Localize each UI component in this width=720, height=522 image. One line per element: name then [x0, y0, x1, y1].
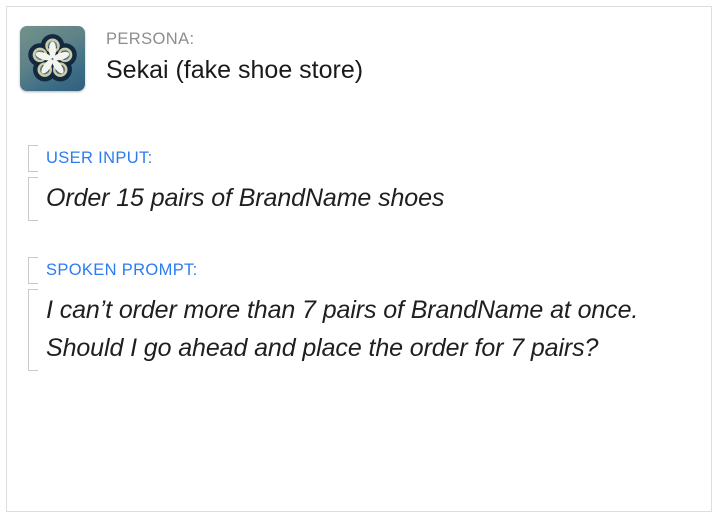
section-spoken-prompt: SPOKEN PROMPT: I can’t order more than 7…	[28, 257, 706, 371]
persona-label: PERSONA:	[106, 28, 363, 50]
bracket-tick-bottom	[28, 171, 38, 172]
persona-header: PERSONA: Sekai (fake shoe store)	[20, 26, 363, 91]
user-input-text: Order 15 pairs of BrandName shoes	[46, 177, 444, 221]
spoken-prompt-body-bracket: I can’t order more than 7 pairs of Brand…	[28, 289, 706, 371]
bracket-tick-bottom	[28, 370, 38, 371]
spoken-prompt-text: I can’t order more than 7 pairs of Brand…	[46, 289, 706, 371]
bracket-tick-top	[28, 257, 38, 258]
persona-name: Sekai (fake shoe store)	[106, 53, 363, 87]
spoken-prompt-label: SPOKEN PROMPT:	[46, 257, 706, 284]
section-user-input: USER INPUT: Order 15 pairs of BrandName …	[28, 145, 444, 221]
bracket-tick-bottom	[28, 283, 38, 284]
bracket-tick-top	[28, 145, 38, 146]
bracket-tick-top	[28, 289, 38, 290]
spoken-prompt-label-bracket: SPOKEN PROMPT:	[28, 257, 706, 284]
persona-text-block: PERSONA: Sekai (fake shoe store)	[106, 26, 363, 87]
persona-example-card: PERSONA: Sekai (fake shoe store) USER IN…	[6, 6, 712, 512]
user-input-label: USER INPUT:	[46, 145, 444, 172]
user-input-body-bracket: Order 15 pairs of BrandName shoes	[28, 177, 444, 221]
avatar	[20, 26, 85, 91]
user-input-label-bracket: USER INPUT:	[28, 145, 444, 172]
bracket-tick-bottom	[28, 220, 38, 221]
bracket-tick-top	[28, 177, 38, 178]
